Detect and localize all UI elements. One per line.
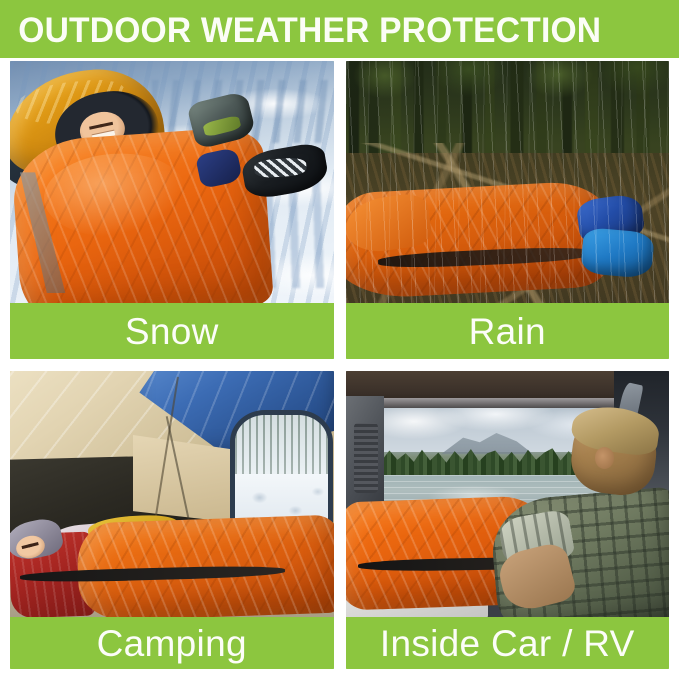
caption-label-inside-car-rv: Inside Car / RV bbox=[380, 625, 635, 662]
rain-streaks bbox=[346, 61, 670, 303]
caption-inside-car-rv: Inside Car / RV bbox=[346, 617, 670, 669]
page-title: OUTDOOR WEATHER PROTECTION bbox=[0, 13, 601, 48]
scenario-card-rain: Rain bbox=[343, 58, 673, 362]
scenario-card-inside-car-rv: Inside Car / RV bbox=[343, 368, 673, 672]
caption-camping: Camping bbox=[10, 617, 334, 669]
scenario-grid: Snow Rain bbox=[0, 58, 679, 678]
photo-rain bbox=[346, 61, 670, 303]
photo-snow bbox=[10, 61, 334, 303]
photo-camping bbox=[10, 371, 334, 617]
scenario-card-camping: Camping bbox=[7, 368, 337, 672]
caption-rain: Rain bbox=[346, 303, 670, 359]
caption-label-camping: Camping bbox=[97, 625, 247, 662]
infographic-root: OUTDOOR WEATHER PROTECTION Snow bbox=[0, 0, 679, 678]
header-band: OUTDOOR WEATHER PROTECTION bbox=[0, 0, 679, 60]
bivy-sack-orange-camping bbox=[76, 514, 333, 617]
caption-snow: Snow bbox=[10, 303, 334, 359]
caption-label-rain: Rain bbox=[469, 313, 546, 350]
scenario-card-snow: Snow bbox=[7, 58, 337, 362]
caption-label-snow: Snow bbox=[125, 313, 219, 350]
photo-inside-car-rv bbox=[346, 371, 670, 617]
